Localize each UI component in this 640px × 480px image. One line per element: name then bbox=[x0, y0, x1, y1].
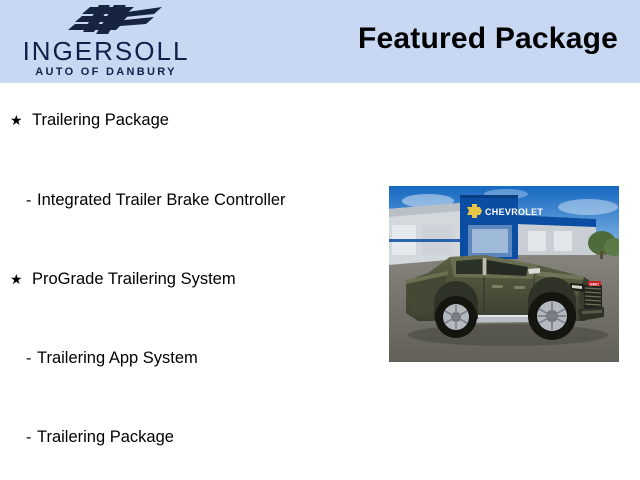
list-item-label: Trailering Package bbox=[37, 427, 174, 447]
dash-bullet-icon: - bbox=[26, 428, 37, 448]
list-item: - Trailering Package bbox=[26, 427, 174, 448]
vehicle-photo: CHEVROLET bbox=[388, 185, 620, 363]
brand-wordmark: INGERSOLL bbox=[8, 38, 204, 64]
star-bullet-icon: ★ bbox=[10, 110, 32, 130]
list-item: ★ Trailering Package bbox=[10, 110, 169, 130]
list-item-label: Trailering Package bbox=[32, 110, 169, 130]
dealer-logo: INGERSOLL AUTO OF DANBURY bbox=[0, 0, 210, 83]
dash-bullet-icon: - bbox=[26, 191, 37, 211]
brand-tagline: AUTO OF DANBURY bbox=[8, 66, 204, 78]
svg-text:GMC: GMC bbox=[590, 281, 599, 286]
star-bullet-icon: ★ bbox=[10, 269, 32, 289]
list-item-label: ProGrade Trailering System bbox=[32, 269, 236, 289]
list-item: - Integrated Trailer Brake Controller bbox=[26, 190, 286, 211]
list-item: ★ ProGrade Trailering System bbox=[10, 269, 236, 289]
dash-bullet-icon: - bbox=[26, 349, 37, 369]
svg-text:CHEVROLET: CHEVROLET bbox=[485, 207, 543, 217]
slide-header: INGERSOLL AUTO OF DANBURY Featured Packa… bbox=[0, 0, 640, 83]
list-item-label: Integrated Trailer Brake Controller bbox=[37, 190, 286, 210]
list-item: - Trailering App System bbox=[26, 348, 198, 369]
page-title: Featured Package bbox=[358, 22, 618, 56]
list-item-label: Trailering App System bbox=[37, 348, 198, 368]
ingersoll-wing-emblem-icon bbox=[42, 3, 172, 35]
